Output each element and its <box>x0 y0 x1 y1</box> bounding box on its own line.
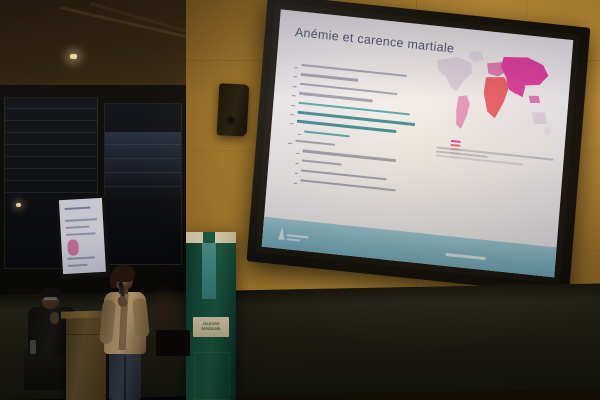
attendee-hand <box>50 312 59 324</box>
wall-speaker <box>217 83 250 136</box>
slide-bullet-list <box>285 63 420 200</box>
projection-screen: Anémie et carence martiale <box>247 0 591 295</box>
monitor-map-thumbnail <box>67 239 79 256</box>
eyeglasses-icon <box>44 297 57 300</box>
map-region-oceania <box>530 111 547 126</box>
foreground-equipment <box>156 330 190 356</box>
presenter <box>100 268 152 400</box>
map-region-north-america <box>435 55 474 93</box>
ceiling-spotlight <box>70 54 77 59</box>
rollup-banner: Journée Médicale <box>186 232 236 400</box>
window-wall-light <box>16 203 21 207</box>
institution-logo <box>270 224 316 251</box>
potted-plant <box>150 282 180 330</box>
banner-stripe <box>202 243 216 299</box>
presenter-right-arm <box>132 297 150 338</box>
spire-icon <box>278 226 285 240</box>
photo-scene: Anémie et carence martiale <box>0 0 600 400</box>
map-region-south-america <box>455 94 471 129</box>
speaker-cone-icon <box>226 116 235 125</box>
world-map-chart <box>425 41 560 150</box>
banner-label-line2: Médicale <box>201 327 220 332</box>
map-caption <box>435 146 555 171</box>
slide-title: Anémie et carence martiale <box>294 25 454 56</box>
confidence-monitor <box>56 195 110 280</box>
monitor-screen <box>59 198 106 274</box>
presentation-slide: Anémie et carence martiale <box>262 9 574 277</box>
map-region-africa <box>482 75 510 119</box>
water-bottle <box>30 340 36 354</box>
slide-date <box>446 253 486 260</box>
banner-label: Journée Médicale <box>193 317 229 337</box>
